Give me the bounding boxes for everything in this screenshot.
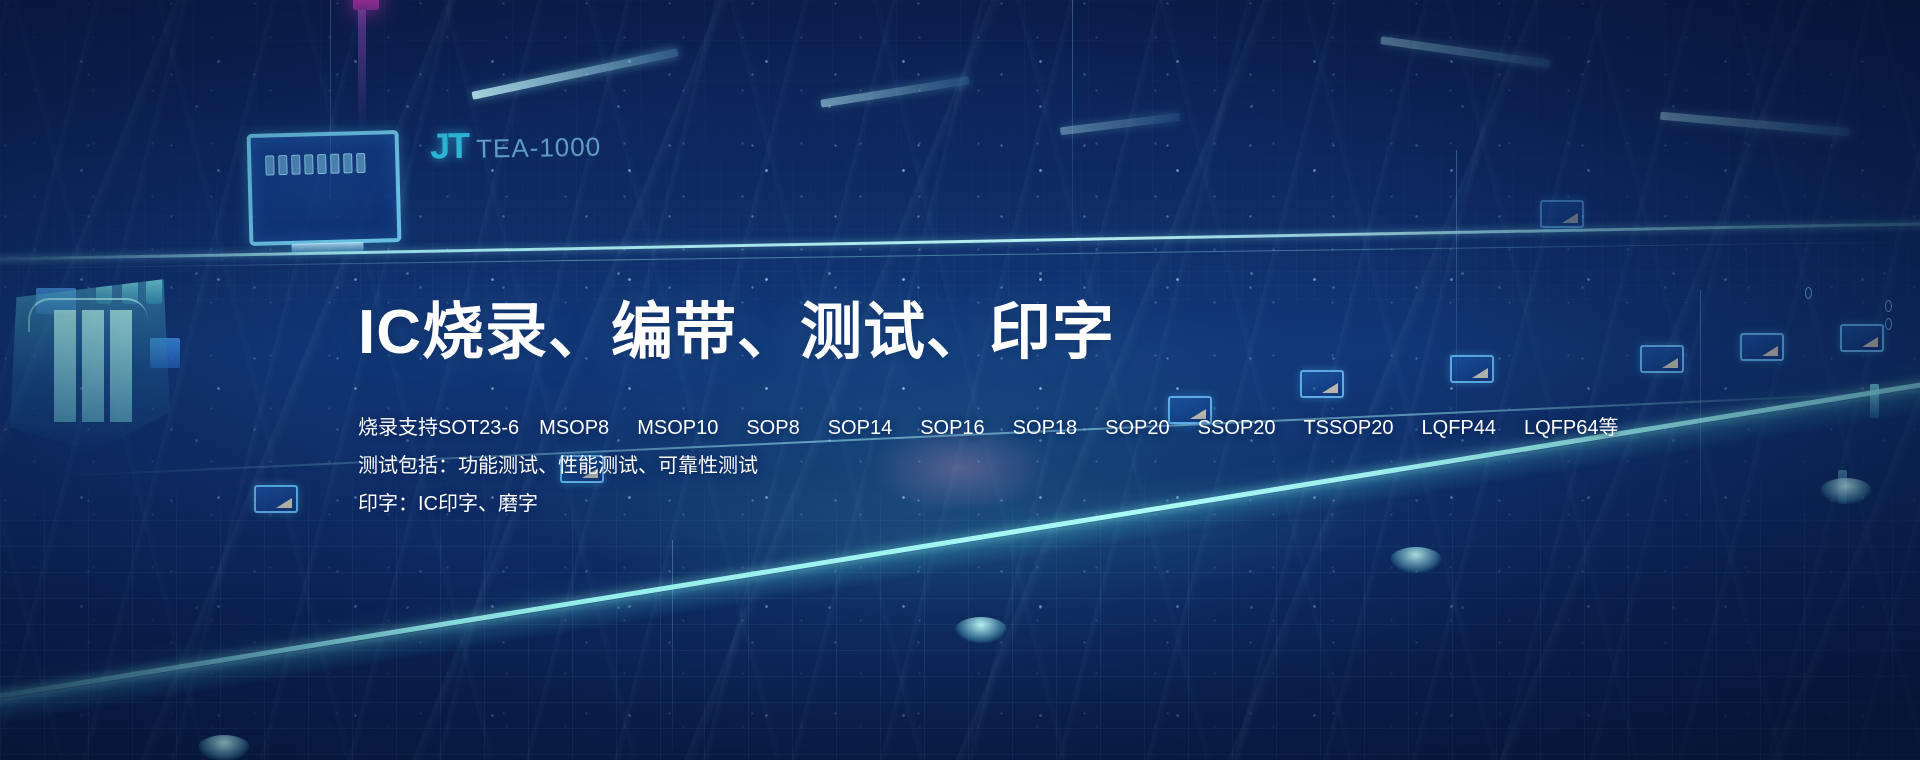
printing-services-line: 印字：IC印字、磨字 (358, 485, 1658, 523)
ceiling-light-fixture-icon (1660, 112, 1850, 137)
package-type-item: LQFP44 (1422, 409, 1496, 447)
monitor-chip-row-icon (265, 153, 365, 176)
support-post-decoration (672, 540, 673, 750)
machine-fin-icon (110, 310, 132, 422)
indicator-pill-icon (1885, 318, 1892, 330)
testing-services-line: 测试包括：功能测试、性能测试、可靠性测试 (358, 447, 1658, 485)
indicator-pill-icon (1805, 287, 1812, 299)
package-type-item: TSSOP20 (1303, 409, 1393, 447)
ceiling-light-fixture-icon (1380, 36, 1549, 68)
package-type-item: SOP16 (920, 409, 984, 447)
support-post-decoration (330, 0, 331, 200)
wall-screen-icon (254, 485, 298, 513)
package-type-item: SOP14 (828, 409, 892, 447)
ceiling-light-fixture-icon (1060, 113, 1180, 136)
machine-tube-icon (146, 262, 162, 304)
machine-fin-icon (82, 310, 104, 422)
rail-mount-foot-icon (1820, 478, 1872, 504)
ceiling-light-fixture-icon (471, 48, 678, 99)
magenta-indicator-light-icon (353, 0, 379, 10)
wall-screen-icon (1540, 200, 1584, 228)
rail-mount-foot-icon (955, 617, 1007, 643)
brand-mark-text: JT (430, 125, 469, 168)
package-type-item: SOP20 (1105, 409, 1169, 447)
industrial-machine-illustration (10, 272, 170, 452)
package-type-item: SOP18 (1013, 409, 1077, 447)
magenta-light-beam-decoration (358, 10, 366, 130)
burn-in-lead-text: 烧录支持SOT23-6 (358, 409, 519, 447)
package-type-item: MSOP8 (539, 409, 609, 447)
wall-screen-icon (1740, 333, 1784, 361)
support-post-decoration (1072, 0, 1073, 240)
brand-model-text: TEA-1000 (476, 132, 602, 165)
package-type-item: MSOP10 (637, 409, 718, 447)
package-type-item: LQFP64等 (1524, 409, 1618, 447)
brand-logo: JT TEA-1000 (430, 123, 602, 168)
package-type-item: SOP8 (746, 409, 799, 447)
ceiling-light-fixture-icon (820, 76, 969, 107)
cnc-monitor-illustration (247, 130, 402, 246)
package-type-item: SSOP20 (1198, 409, 1276, 447)
hero-content: IC烧录、编带、测试、印字 烧录支持SOT23-6MSOP8MSOP10SOP8… (358, 300, 1658, 523)
rail-mount-foot-icon (198, 735, 250, 760)
page-title: IC烧录、编带、测试、印字 (358, 300, 1658, 367)
machine-fin-icon (54, 310, 76, 422)
burn-in-support-line: 烧录支持SOT23-6MSOP8MSOP10SOP8SOP14SOP16SOP1… (358, 409, 1658, 447)
wall-screen-icon (1840, 324, 1884, 352)
ic-services-hero-banner: JT TEA-1000 IC烧录、编带、测试、印字 烧录支持SOT23-6MSO… (0, 0, 1920, 760)
service-description-list: 烧录支持SOT23-6MSOP8MSOP10SOP8SOP14SOP16SOP1… (358, 409, 1658, 523)
rail-mount-foot-icon (1390, 547, 1442, 573)
indicator-pill-icon (1885, 300, 1892, 312)
package-type-list: MSOP8MSOP10SOP8SOP14SOP16SOP18SOP20SSOP2… (539, 417, 1618, 439)
